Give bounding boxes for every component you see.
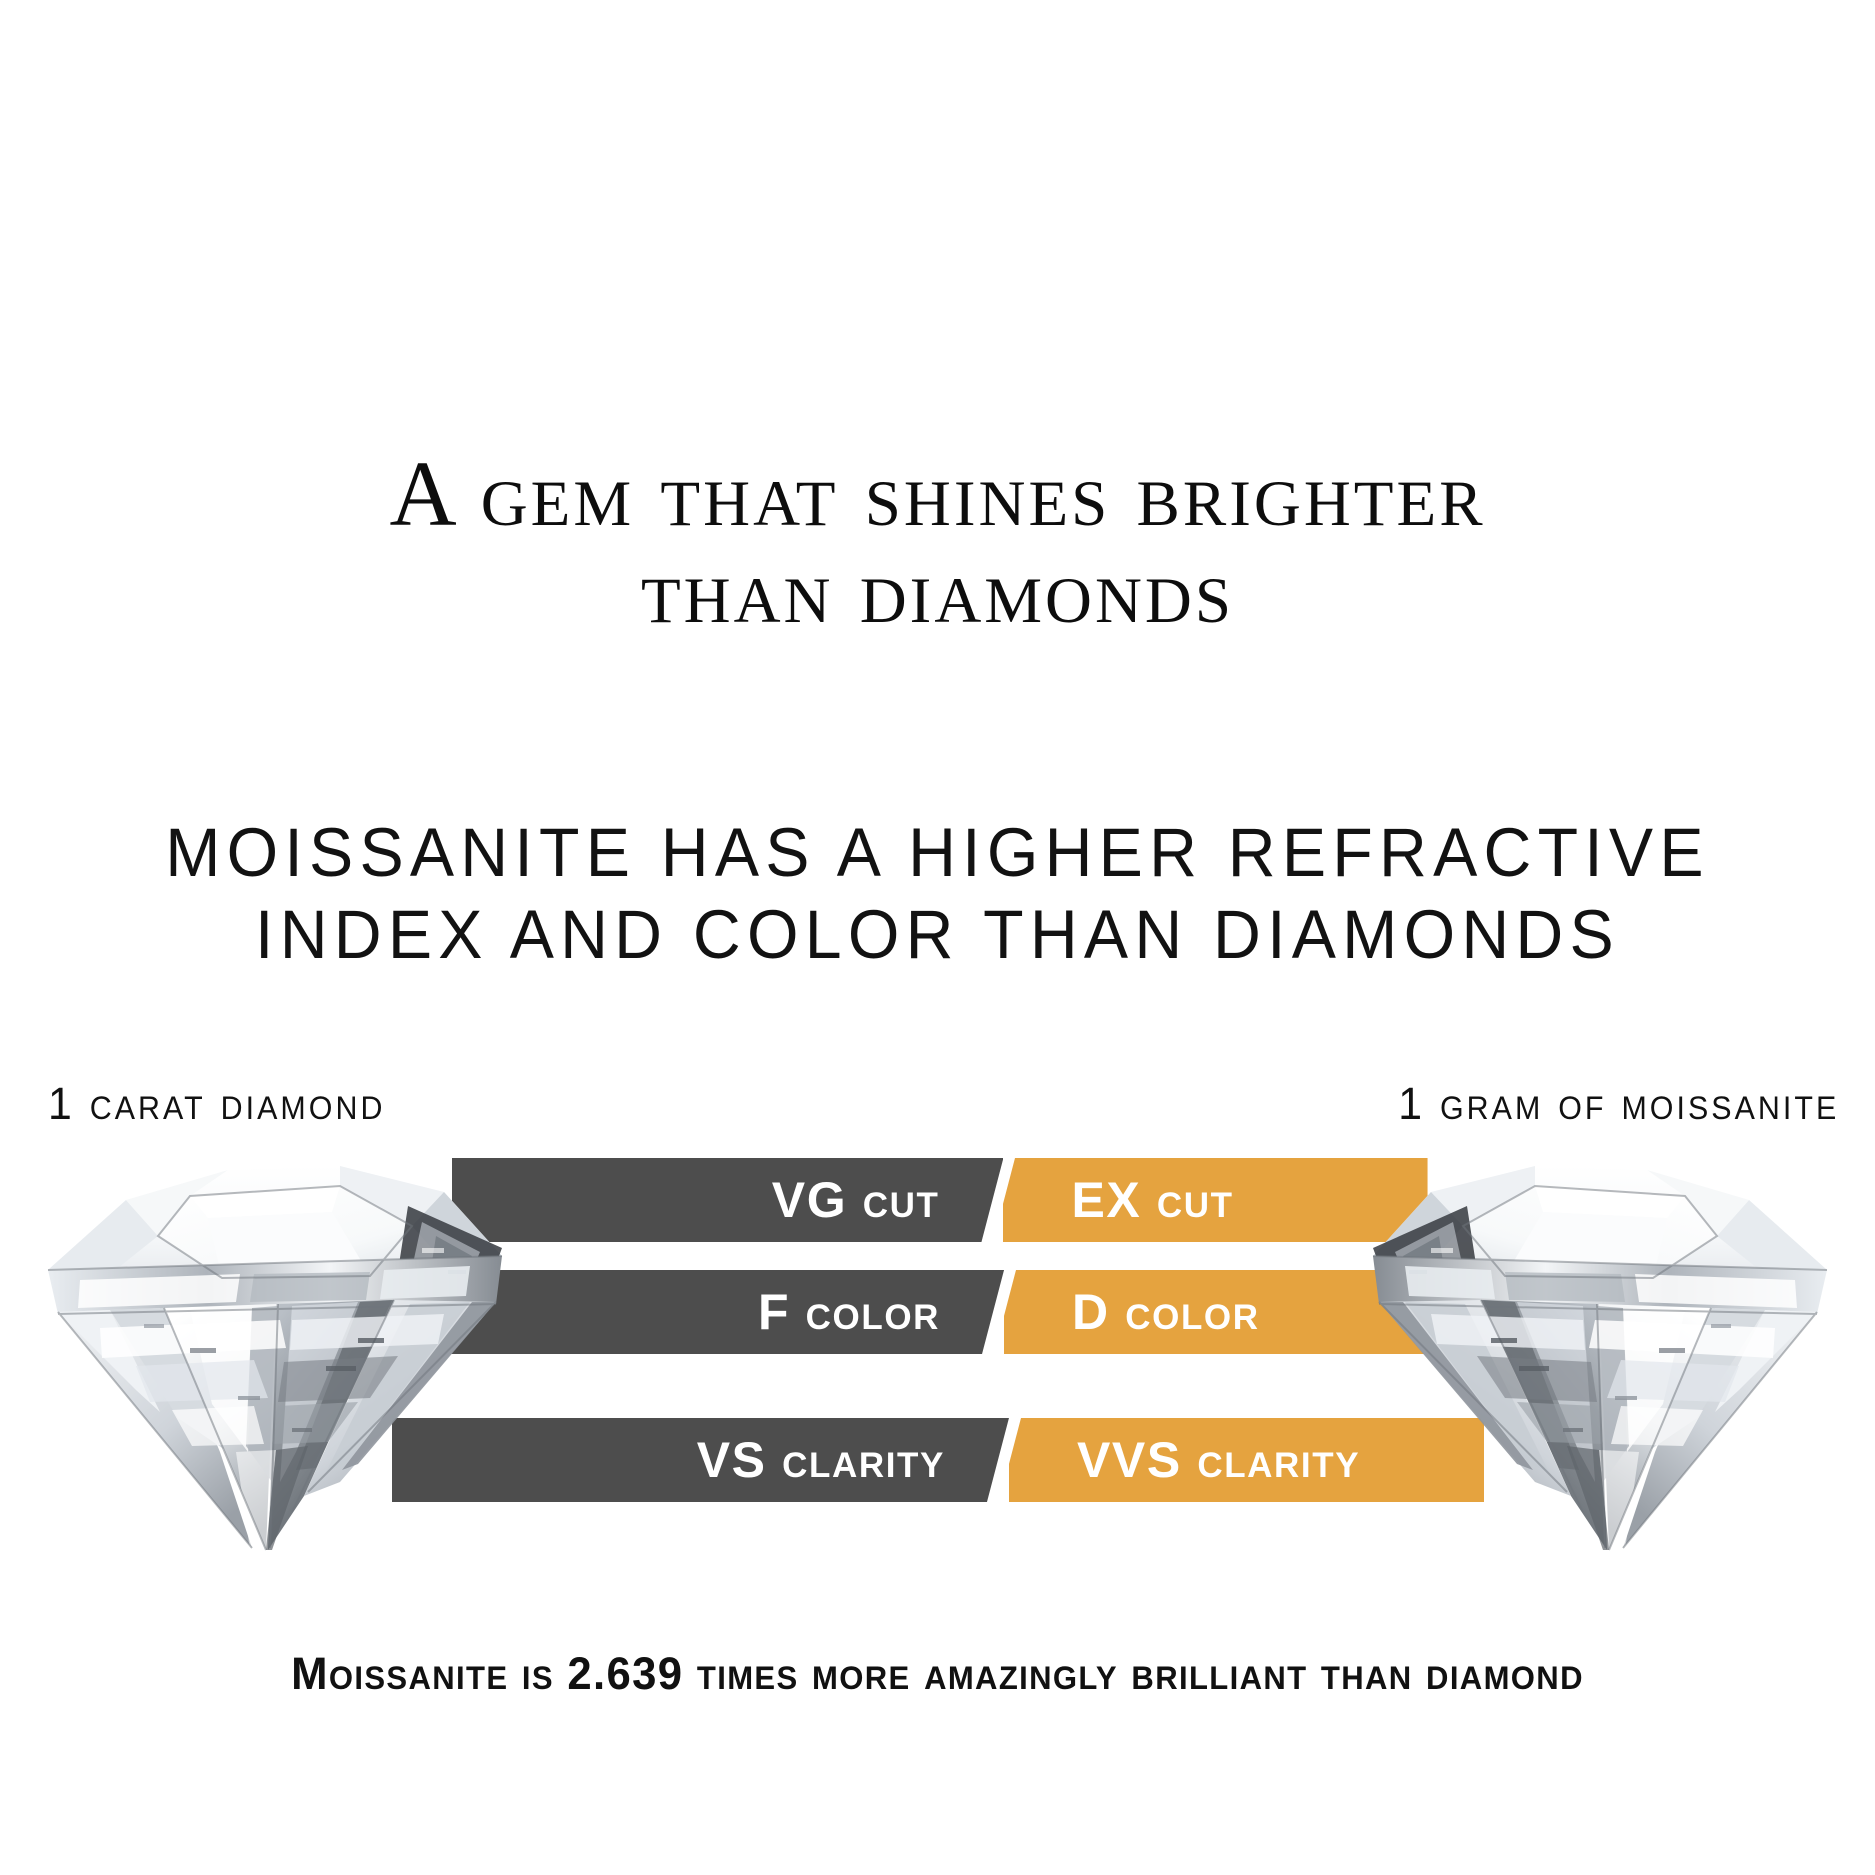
band-label-diamond-color: F color: [758, 1287, 940, 1337]
band-label-moissanite-clarity: VVS clarity: [1077, 1435, 1360, 1485]
infographic-poster: A gem that shines brighter than diamonds…: [0, 0, 1875, 1875]
band-label-moissanite-cut: EX cut: [1071, 1175, 1233, 1225]
caption-moissanite: 1 gram of moissanite: [1398, 1078, 1839, 1130]
comparison-stage: VG cut EX cut F color: [0, 1140, 1875, 1570]
caption-diamond: 1 carat diamond: [48, 1078, 385, 1130]
comparison-row-cut: VG cut EX cut: [452, 1158, 1428, 1242]
band-half-moissanite-cut: EX cut: [1003, 1158, 1428, 1242]
band-half-diamond-clarity: VS clarity: [392, 1418, 1009, 1502]
page-subtitle: Moissanite has a higher refractive index…: [38, 812, 1838, 975]
band-label-diamond-cut: VG cut: [772, 1175, 940, 1225]
band-half-moissanite-clarity: VVS clarity: [1009, 1418, 1484, 1502]
comparison-row-color: F color D color: [430, 1270, 1446, 1354]
band-label-diamond-clarity: VS clarity: [697, 1435, 945, 1485]
band-half-diamond-color: F color: [430, 1270, 1004, 1354]
footer-note: Moissanite is 2.639 times more amazingly…: [28, 1648, 1847, 1700]
band-half-moissanite-color: D color: [1004, 1270, 1446, 1354]
comparison-band-layer: VG cut EX cut F color: [0, 1140, 1875, 1570]
page-title: A gem that shines brighter than diamonds: [0, 447, 1875, 640]
comparison-row-clarity: VS clarity VVS clarity: [392, 1418, 1484, 1502]
band-label-moissanite-color: D color: [1072, 1287, 1260, 1337]
band-half-diamond-cut: VG cut: [452, 1158, 1003, 1242]
